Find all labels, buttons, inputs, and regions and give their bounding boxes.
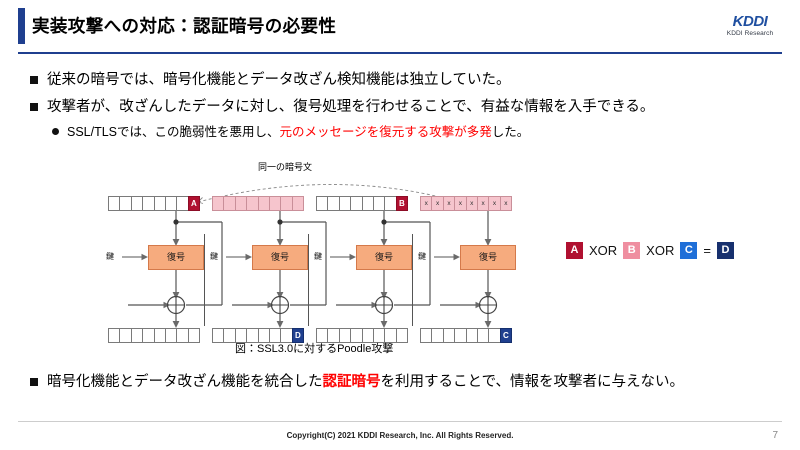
kddi-research-logo: KDDI KDDI Research: [714, 14, 786, 38]
slide-header: 実装攻撃への対応：認証暗号の必要性 KDDI KDDI Research: [0, 8, 800, 44]
page-number: 7: [772, 430, 778, 441]
bullet-1-text: 従来の暗号では、暗号化機能とデータ改ざん検知機能は独立していた。: [47, 70, 511, 91]
ciphertext-block-1: A: [108, 196, 200, 211]
key-label-4-text: 鍵: [418, 252, 426, 261]
key-label-2: 鍵: [210, 251, 218, 262]
poodle-attack-diagram: 同一の暗号文: [100, 160, 530, 360]
bullet-item-1: 従来の暗号では、暗号化機能とデータ改ざん検知機能は独立していた。: [30, 70, 770, 91]
formula-box-c: C: [680, 242, 697, 259]
bullet-4-highlight: 認証暗号: [323, 374, 381, 390]
decrypt-box-4: 復号: [460, 245, 516, 270]
bullet-4-text: 暗号化機能とデータ改ざん機能を統合した認証暗号を利用することで、情報を攻撃者に与…: [47, 372, 684, 393]
xor-formula: A XOR B XOR C = D: [566, 242, 734, 259]
stage-separator-1: [204, 234, 205, 326]
bullet-4-prefix: 暗号化機能とデータ改ざん機能を統合した: [47, 374, 323, 390]
square-bullet-icon: [30, 378, 38, 386]
ciphertext-block-4: x x x x x x x x: [420, 196, 512, 211]
stage-separator-3: [412, 234, 413, 326]
plaintext-block-4: C: [420, 328, 512, 343]
square-bullet-icon: [30, 76, 38, 84]
bullet-3-prefix: SSL/TLSでは、この脆弱性を悪用し、: [67, 125, 280, 139]
cipher-cell: [292, 196, 304, 211]
bullet-3-suffix: した。: [492, 125, 530, 139]
footer-divider: [18, 421, 782, 422]
plain-cell: [188, 328, 200, 343]
key-label-1-text: 鍵: [106, 252, 114, 261]
title-accent-bar: [18, 8, 25, 44]
decrypt-box-2: 復号: [252, 245, 308, 270]
bullet-3-text: SSL/TLSでは、この脆弱性を悪用し、元のメッセージを復元する攻撃が多発した。: [67, 123, 529, 141]
bullet-item-4: 暗号化機能とデータ改ざん機能を統合した認証暗号を利用することで、情報を攻撃者に与…: [30, 372, 780, 393]
formula-box-b: B: [623, 242, 640, 259]
stage-separator-2: [308, 234, 309, 326]
header-divider: [18, 52, 782, 54]
page-title: 実装攻撃への対応：認証暗号の必要性: [32, 13, 336, 38]
key-label-3-text: 鍵: [314, 252, 322, 261]
diagram-caption: 図：SSL3.0に対するPoodle攻撃: [235, 340, 393, 356]
bullet-4-suffix: を利用することで、情報を攻撃者に与えない。: [381, 374, 684, 390]
padding-cell: x: [500, 196, 512, 211]
plaintext-block-1: [108, 328, 200, 343]
key-label-1: 鍵: [106, 251, 114, 262]
bullet-item-3: SSL/TLSでは、この脆弱性を悪用し、元のメッセージを復元する攻撃が多発した。: [52, 123, 772, 141]
bullet-item-2: 攻撃者が、改ざんしたデータに対し、復号処理を行わせることで、有益な情報を入手でき…: [30, 97, 780, 118]
key-label-2-text: 鍵: [210, 252, 218, 261]
ciphertext-block-3: B: [316, 196, 408, 211]
kddi-logo-mark: KDDI: [714, 14, 786, 29]
key-label-4: 鍵: [418, 251, 426, 262]
formula-operator-1: XOR: [589, 243, 617, 258]
plain-cell: [396, 328, 408, 343]
block-tag-c: C: [500, 328, 512, 343]
formula-operator-2: XOR: [646, 243, 674, 258]
footer-copyright: Copyright(C) 2021 KDDI Research, Inc. Al…: [0, 431, 800, 440]
ciphertext-block-2: [212, 196, 304, 211]
decrypt-box-1: 復号: [148, 245, 204, 270]
round-bullet-icon: [52, 128, 59, 135]
formula-equals-sign: =: [703, 243, 711, 258]
bullet-2-text: 攻撃者が、改ざんしたデータに対し、復号処理を行わせることで、有益な情報を入手でき…: [47, 97, 654, 118]
formula-box-a: A: [566, 242, 583, 259]
decrypt-box-3: 復号: [356, 245, 412, 270]
formula-box-d: D: [717, 242, 734, 259]
kddi-logo-subtitle: KDDI Research: [714, 31, 786, 38]
block-tag-b: B: [396, 196, 408, 211]
square-bullet-icon: [30, 103, 38, 111]
bullet-3-highlight: 元のメッセージを復元する攻撃が多発: [280, 125, 492, 139]
block-tag-a: A: [188, 196, 200, 211]
key-label-3: 鍵: [314, 251, 322, 262]
